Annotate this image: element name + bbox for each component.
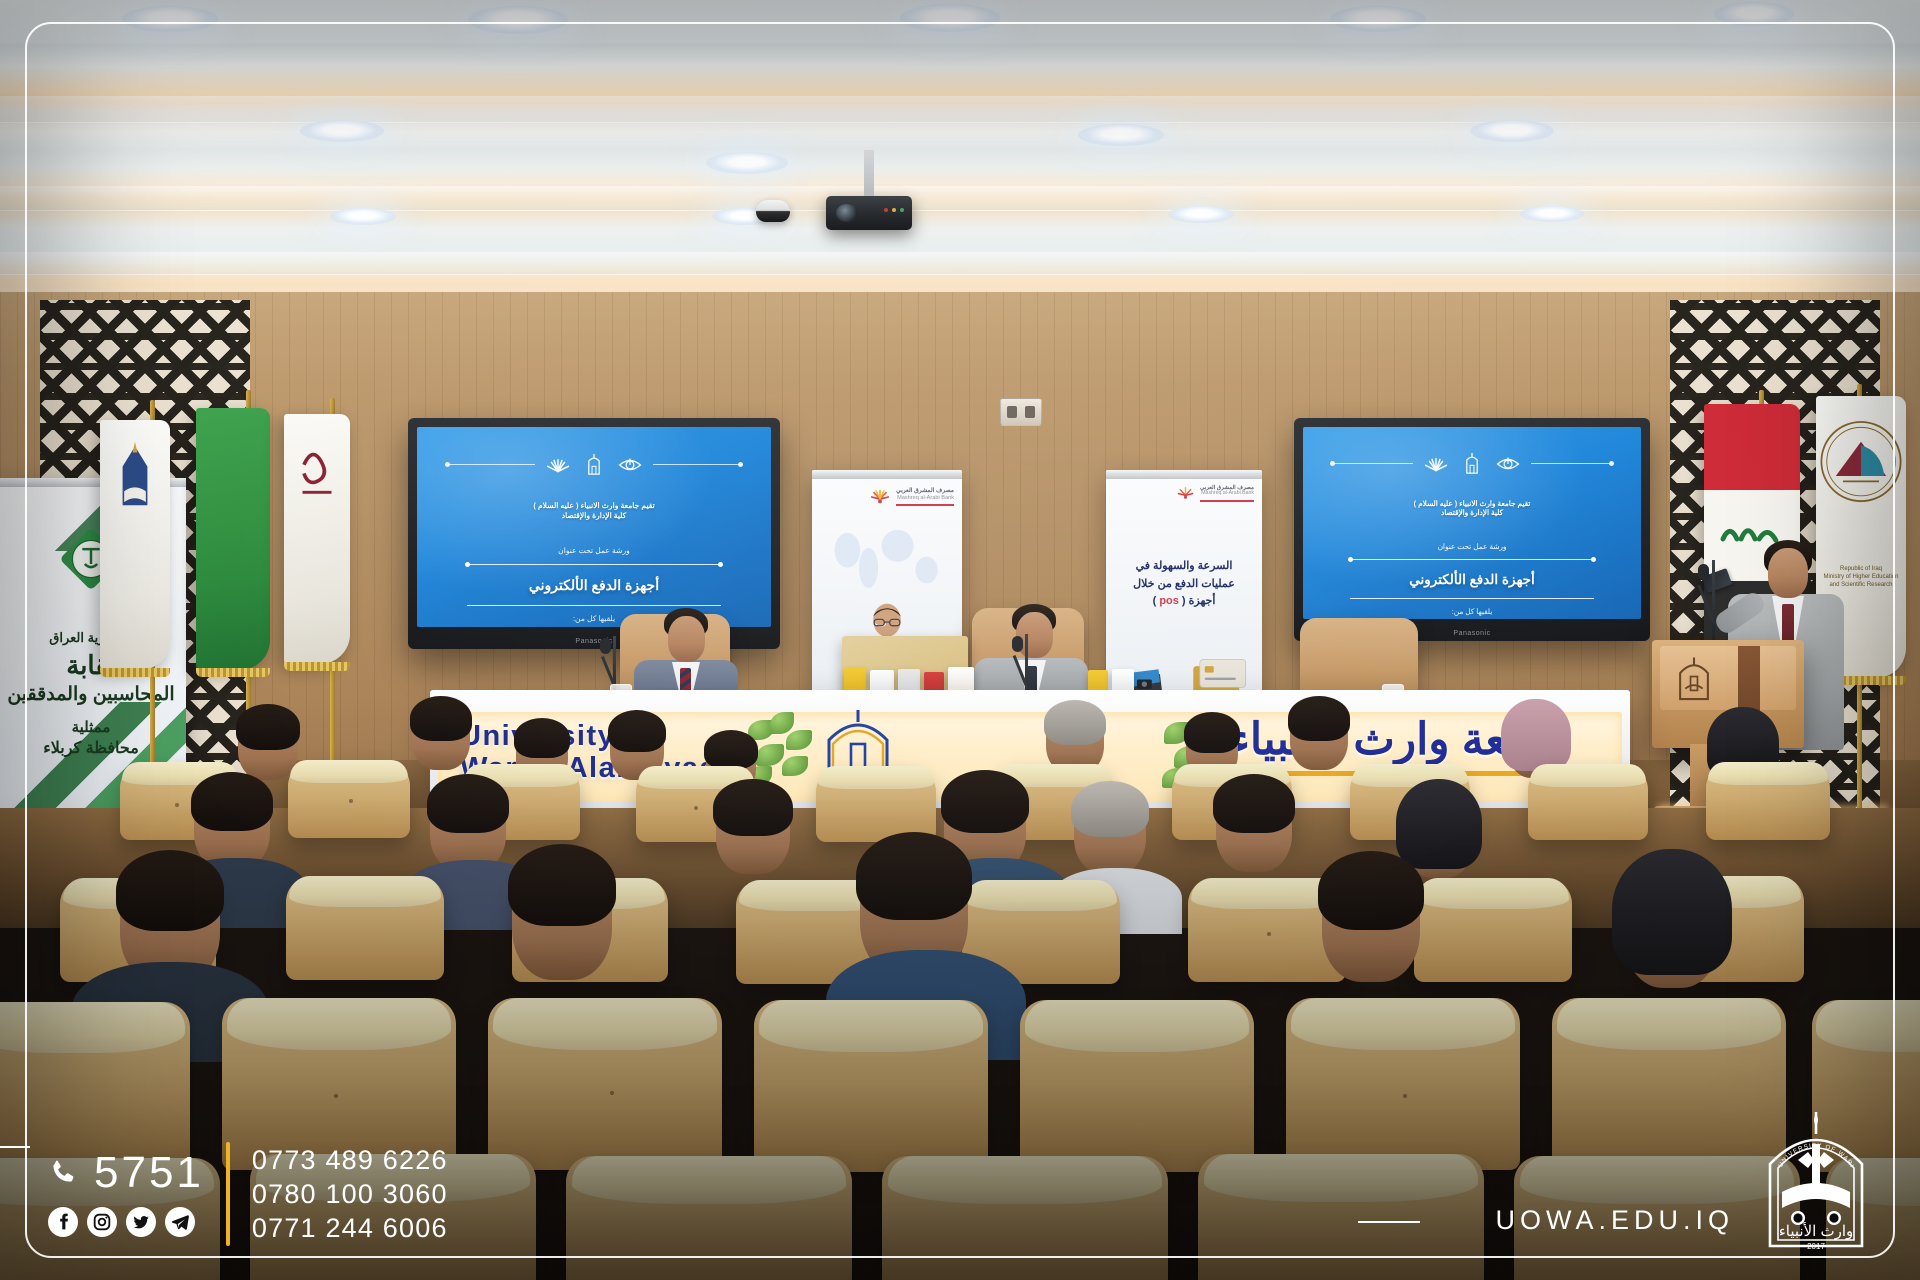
screen-panel-right: تقيم جامعة وارث الانبياء ( عليه السلام )… bbox=[1303, 427, 1641, 619]
pos-keyword: pos bbox=[1159, 595, 1179, 607]
audience-head bbox=[716, 784, 790, 874]
mic-capsule-icon bbox=[600, 638, 611, 654]
audience-seat-front bbox=[1286, 998, 1520, 1170]
website-rule bbox=[1358, 1221, 1420, 1223]
projector-lens-icon bbox=[836, 204, 858, 222]
slide-rule bbox=[653, 464, 743, 465]
phone-number[interactable]: 0780 100 3060 bbox=[252, 1181, 448, 1208]
headline-line-2: عمليات الدفع من خلال bbox=[1112, 576, 1256, 594]
ceiling-light bbox=[468, 6, 568, 34]
audience-head bbox=[1074, 786, 1146, 874]
bank-logo-underline bbox=[896, 504, 954, 506]
slide-rule bbox=[1330, 463, 1413, 464]
ceiling-light bbox=[1520, 206, 1584, 222]
mic-capsule-icon bbox=[1698, 564, 1709, 580]
instagram-icon[interactable] bbox=[87, 1207, 117, 1237]
world-map-graphic bbox=[821, 504, 953, 614]
frame-left-tick bbox=[0, 1146, 30, 1148]
audience-head bbox=[430, 780, 506, 872]
hotline-number[interactable]: 5751 bbox=[94, 1151, 204, 1195]
bank-name-english: Mashreq al-Arabi Bank bbox=[896, 495, 954, 501]
bank-logo: مصرف المشرق العربي Mashreq al-Arabi Bank bbox=[1176, 484, 1254, 503]
twitter-icon[interactable] bbox=[126, 1207, 156, 1237]
flag-fringe bbox=[100, 668, 170, 677]
projector-status-leds bbox=[884, 208, 904, 212]
wall-socket bbox=[1000, 398, 1042, 426]
bank-logo: مصرف المشرق العربي Mashreq al-Arabi Bank bbox=[869, 486, 954, 508]
slide-organizer: تقيم جامعة وارث الانبياء ( عليه السلام )… bbox=[533, 501, 654, 522]
photo-canvas: تقيم جامعة وارث الانبياء ( عليه السلام )… bbox=[0, 0, 1920, 1280]
bank-sunburst-icon bbox=[869, 486, 891, 508]
bank-logo-underline bbox=[1200, 500, 1254, 502]
mic-stand bbox=[1712, 560, 1715, 652]
sunburst-crest-icon bbox=[545, 452, 571, 478]
audience-seat bbox=[1414, 878, 1572, 982]
headline-line-3: أجهزة ( pos ) bbox=[1112, 593, 1256, 611]
shrine-crest-icon bbox=[1459, 451, 1485, 477]
banner-top-bar bbox=[1106, 470, 1262, 479]
slide-crest-row bbox=[445, 452, 742, 478]
panelist-left-head bbox=[668, 616, 705, 662]
slide-organizer-line2: كلية الإدارة والإقتصاد bbox=[533, 511, 654, 521]
flag-fringe bbox=[196, 668, 270, 677]
headline-prefix: أجهزة ( bbox=[1179, 595, 1216, 607]
audience-seat-nearest bbox=[566, 1156, 852, 1280]
slide-byline: يلقيها كل من: bbox=[1452, 607, 1492, 616]
phone-list: 0773 489 6226 0780 100 3060 0771 244 600… bbox=[252, 1147, 448, 1242]
slide-crest-row bbox=[1330, 451, 1614, 477]
bank-logo-text: مصرف المشرق العربي Mashreq al-Arabi Bank bbox=[1200, 485, 1254, 502]
bank-sunburst-icon bbox=[1176, 484, 1195, 503]
audience-seat bbox=[1528, 764, 1648, 840]
ceiling-light bbox=[300, 120, 384, 142]
flag-crest-icon bbox=[100, 420, 170, 575]
phone-icon bbox=[48, 1158, 78, 1188]
slide-title: أجهزة الدفع الألكتروني bbox=[1350, 572, 1593, 588]
audience-head bbox=[1322, 858, 1420, 982]
display-screen-right: تقيم جامعة وارث الانبياء ( عليه السلام )… bbox=[1294, 418, 1650, 641]
audience-head bbox=[238, 708, 298, 780]
slide-title-box: أجهزة الدفع الألكتروني bbox=[1350, 559, 1593, 599]
contact-left-column: 5751 bbox=[48, 1151, 204, 1237]
website-url[interactable]: UOWA.EDU.IQ bbox=[1495, 1205, 1734, 1236]
slide-organizer-line1: تقيم جامعة وارث الانبياء ( عليه السلام ) bbox=[533, 501, 654, 511]
slide-kicker: ورشة عمل تحت عنوان bbox=[558, 546, 630, 555]
dome-camera-icon bbox=[756, 200, 790, 222]
slide-content-right: تقيم جامعة وارث الانبياء ( عليه السلام )… bbox=[1303, 427, 1641, 619]
slide-content-left: تقيم جامعة وارث الانبياء ( عليه السلام )… bbox=[417, 427, 771, 627]
screen-panel-left: تقيم جامعة وارث الانبياء ( عليه السلام )… bbox=[417, 427, 771, 627]
ceiling-light bbox=[1330, 6, 1426, 32]
auditorium-scene: تقيم جامعة وارث الانبياء ( عليه السلام )… bbox=[0, 0, 1920, 1280]
ceiling-light bbox=[1078, 124, 1164, 146]
audience-seat-nearest bbox=[882, 1156, 1168, 1280]
slide-organizer-line1: تقيم جامعة وارث الانبياء ( عليه السلام ) bbox=[1414, 499, 1531, 509]
audience-seat bbox=[816, 766, 936, 842]
headline-line-1: السرعة والسهولة في bbox=[1112, 558, 1256, 576]
facebook-icon[interactable] bbox=[48, 1207, 78, 1237]
logo-year-text: 2017 bbox=[1807, 1242, 1825, 1251]
eye-crest-icon bbox=[1495, 451, 1521, 477]
ceiling-band bbox=[0, 252, 1920, 274]
slide-byline: يلقيها كل من: bbox=[573, 614, 615, 623]
mic-capsule-icon bbox=[1012, 636, 1023, 652]
flag-calligraphy-icon bbox=[284, 414, 350, 559]
podium-microphone bbox=[1700, 560, 1726, 652]
flag-white-calligraphy bbox=[284, 414, 350, 664]
flag-fringe bbox=[284, 662, 350, 671]
audience-seat bbox=[288, 760, 410, 838]
shrine-crest-icon bbox=[581, 452, 607, 478]
university-logo-icon: UNIVERSITY OF WARITH AL-ANBIYAA وارث الأ… bbox=[1754, 1108, 1878, 1258]
hotline-row: 5751 bbox=[48, 1151, 204, 1195]
slide-rule bbox=[1531, 463, 1614, 464]
ceiling-band bbox=[0, 96, 1920, 122]
audience-seat-front bbox=[1552, 998, 1786, 1170]
bank-banner-headline: السرعة والسهولة في عمليات الدفع من خلال … bbox=[1112, 558, 1256, 611]
audience-head bbox=[194, 778, 270, 870]
flag-green-karbala bbox=[196, 408, 270, 670]
speaker-head bbox=[1768, 548, 1808, 598]
banner-top-bar bbox=[812, 470, 962, 479]
audience-head bbox=[1216, 780, 1292, 872]
bank-name-arabic: مصرف المشرق العربي bbox=[896, 488, 954, 495]
audience-head bbox=[1404, 788, 1474, 878]
contact-divider bbox=[226, 1142, 230, 1246]
ceiling-light bbox=[900, 4, 1000, 32]
audience-head bbox=[512, 852, 612, 980]
bank-name-english: Mashreq al-Arabi Bank bbox=[1200, 491, 1254, 497]
ceiling-light bbox=[1168, 206, 1234, 223]
ceiling-band bbox=[0, 186, 1920, 210]
audience-head bbox=[1624, 862, 1720, 988]
sunburst-crest-icon bbox=[1423, 451, 1449, 477]
slide-organizer-line2: كلية الإدارة والإقتصاد bbox=[1414, 508, 1531, 518]
audience-head bbox=[412, 700, 470, 770]
flag-white-crest bbox=[100, 420, 170, 670]
audience-seat-front bbox=[1020, 1000, 1254, 1172]
ceiling-light bbox=[706, 152, 788, 174]
audience-seat bbox=[1706, 762, 1830, 840]
eye-crest-icon bbox=[617, 452, 643, 478]
phone-number[interactable]: 0773 489 6226 bbox=[252, 1147, 448, 1174]
audience-seat-nearest bbox=[1198, 1154, 1484, 1280]
social-links bbox=[48, 1207, 204, 1237]
audience-seat-front bbox=[754, 1000, 988, 1172]
bank-logo-text: مصرف المشرق العربي Mashreq al-Arabi Bank bbox=[896, 488, 954, 506]
ceiling-light bbox=[122, 6, 218, 32]
slide-rule bbox=[445, 464, 535, 465]
slide-kicker: ورشة عمل تحت عنوان bbox=[1438, 542, 1507, 551]
ceiling-light bbox=[330, 208, 396, 225]
ceiling-projector bbox=[826, 196, 912, 230]
slide-title: أجهزة الدفع الألكتروني bbox=[467, 577, 722, 594]
ceiling-light bbox=[1714, 2, 1794, 26]
audience-seat-front bbox=[488, 998, 722, 1170]
audience-seat bbox=[286, 876, 444, 980]
logo-arabic-text: وارث الأنبياء bbox=[1779, 1222, 1854, 1240]
slide-organizer: تقيم جامعة وارث الانبياء ( عليه السلام )… bbox=[1414, 499, 1531, 519]
phone-number[interactable]: 0771 244 6006 bbox=[252, 1215, 448, 1242]
tv-brand-label: Panasonic bbox=[1453, 630, 1490, 637]
contact-block: 5751 bbox=[48, 1142, 448, 1246]
ceiling-light bbox=[1470, 120, 1554, 142]
contact-row: 5751 bbox=[48, 1142, 448, 1246]
audience-head bbox=[1290, 700, 1348, 770]
slide-title-box: أجهزة الدفع الألكتروني bbox=[467, 564, 722, 606]
telegram-icon[interactable] bbox=[165, 1207, 195, 1237]
